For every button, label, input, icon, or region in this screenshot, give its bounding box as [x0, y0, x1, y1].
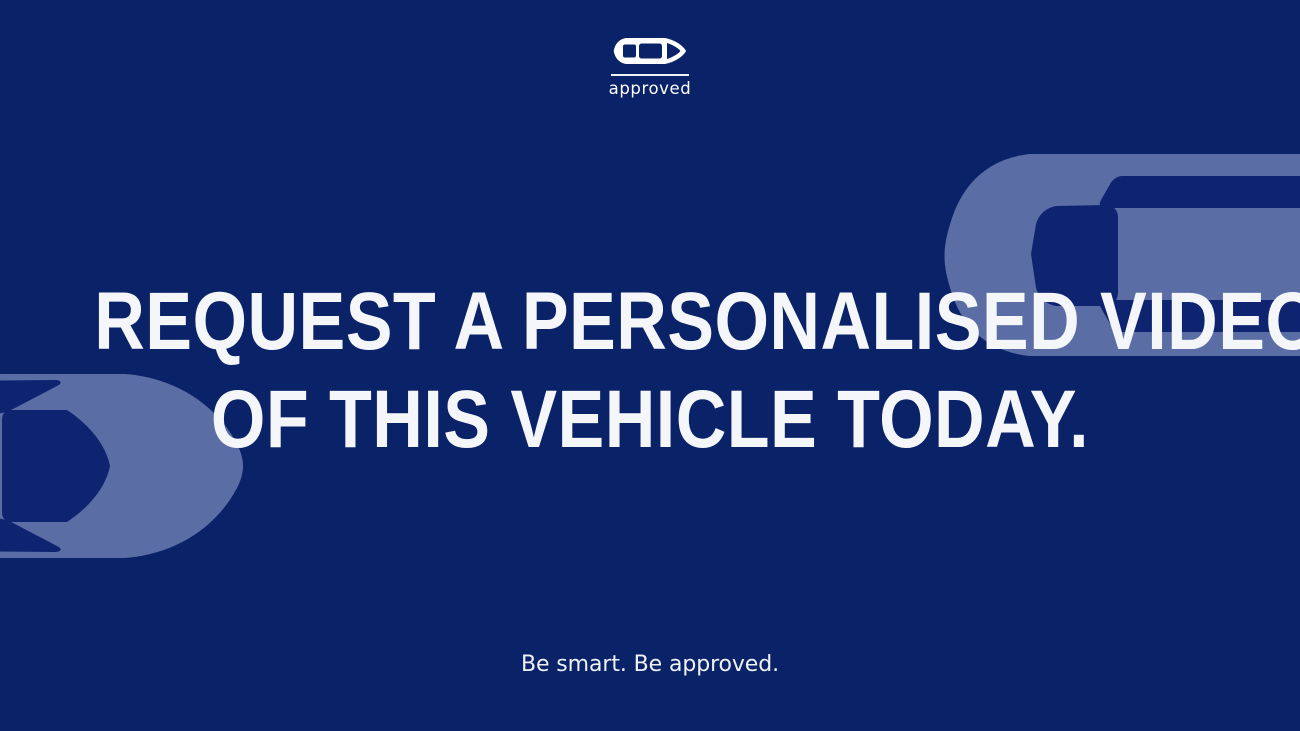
logo-wordmark: approved [609, 81, 692, 98]
approved-logo: approved [0, 36, 1300, 98]
headline-line-2: OF THIS VEHICLE TODAY. [94, 381, 1206, 460]
headline-line-1: REQUEST A PERSONALISED VIDEO [94, 283, 1206, 362]
approved-car-icon [613, 36, 687, 66]
promo-banner: approved REQUEST A PERSONALISED VIDEO OF… [0, 0, 1300, 731]
logo-divider [611, 74, 689, 76]
page-title: REQUEST A PERSONALISED VIDEO OF THIS VEH… [0, 283, 1300, 459]
tagline: Be smart. Be approved. [0, 653, 1300, 677]
